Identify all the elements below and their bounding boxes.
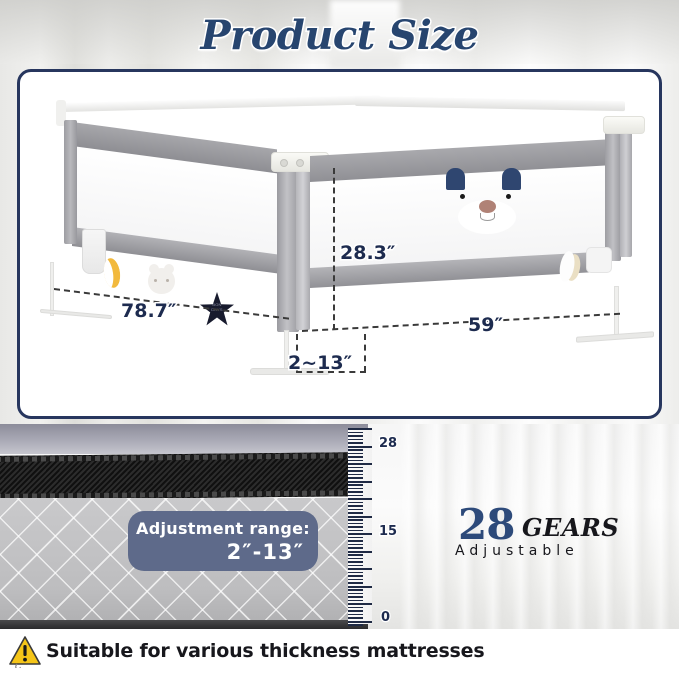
ruler-tick xyxy=(348,582,363,584)
ruler-tick xyxy=(348,586,372,588)
ruler-tick xyxy=(348,460,363,462)
rail-right-corner-cap xyxy=(603,116,645,134)
storage-pocket-right xyxy=(586,247,612,273)
ruler-label-15: 15 xyxy=(379,524,397,539)
ruler-tick xyxy=(348,530,363,532)
rail-far-top-bar-right xyxy=(355,96,625,111)
ruler-tick xyxy=(348,505,363,507)
rail-right-vertical-post xyxy=(605,131,621,261)
dimension-line-width xyxy=(302,313,620,332)
ruler-tick xyxy=(348,547,363,549)
ruler-tick xyxy=(348,519,363,521)
bed-frame-top xyxy=(0,424,368,454)
ruler-tick xyxy=(348,596,363,598)
ruler-tick xyxy=(348,498,372,500)
ruler-tick xyxy=(348,624,363,626)
ruler-tick xyxy=(348,540,363,542)
dimension-label-height: 28.3″ xyxy=(340,242,395,264)
dimension-line-height xyxy=(333,168,335,330)
caption-text: Suitable for various thickness mattresse… xyxy=(46,640,484,662)
ruler-tick xyxy=(348,481,372,483)
ruler-tick xyxy=(348,526,363,528)
rail-far-top-bar-left xyxy=(60,95,380,112)
dimension-label-clearance: 2~13″ xyxy=(288,352,352,374)
ruler-tick xyxy=(348,600,363,602)
ruler-tick xyxy=(348,509,363,511)
ruler-tick xyxy=(348,533,372,535)
dimension-label-length: 78.7″ xyxy=(121,300,176,322)
ruler-tick xyxy=(348,439,363,441)
ruler-tick xyxy=(348,603,372,605)
ruler-tick xyxy=(348,474,363,476)
ruler-tick xyxy=(348,544,363,546)
ruler-tick xyxy=(348,551,372,553)
ruler-tick xyxy=(348,435,363,437)
bear-face-graphic xyxy=(428,168,546,238)
ruler-tick xyxy=(348,442,363,444)
ruler-tick xyxy=(348,484,363,486)
ruler-tick xyxy=(348,593,363,595)
ruler-label-0: 0 xyxy=(381,610,390,625)
ruler-tick xyxy=(348,561,363,563)
ruler-tick xyxy=(348,453,363,455)
ruler-tick xyxy=(348,558,363,560)
leg-foot-right xyxy=(576,331,654,342)
ruler-tick xyxy=(348,575,363,577)
ruler-tick xyxy=(348,495,363,497)
ruler-tick xyxy=(348,446,372,448)
gears-subtitle: Adjustable xyxy=(455,543,579,559)
ruler-tick xyxy=(348,614,363,616)
measurement-ruler xyxy=(348,428,372,624)
ruler-tick xyxy=(348,554,363,556)
rail-left-vertical-post xyxy=(64,120,77,244)
warning-triangle-icon xyxy=(8,634,42,668)
infographic-root: Product Size BONDAYS xyxy=(0,0,679,679)
ruler-tick xyxy=(348,491,363,493)
dimension-label-width: 59″ xyxy=(468,314,503,336)
ruler-tick xyxy=(348,449,363,451)
ruler-tick xyxy=(348,523,363,525)
bear-face-icon xyxy=(148,268,175,294)
ruler-tick xyxy=(348,502,363,504)
ruler-tick xyxy=(348,568,372,570)
ruler-tick xyxy=(348,589,363,591)
ruler-tick xyxy=(348,456,363,458)
ruler-tick xyxy=(348,516,372,518)
ruler-tick xyxy=(348,470,363,472)
mattress-mesh-band xyxy=(0,452,368,500)
storage-pocket-icon xyxy=(82,229,106,274)
ruler-tick xyxy=(348,565,363,567)
crescent-moon-icon-right xyxy=(564,253,582,282)
rail-corner-post-inner xyxy=(296,170,310,330)
product-diagram-panel: BONDAYS xyxy=(17,69,662,419)
ruler-tick xyxy=(348,428,372,430)
ruler-label-28: 28 xyxy=(379,436,397,451)
adjustment-range-title: Adjustment range: xyxy=(136,519,310,538)
ruler-tick xyxy=(348,463,372,465)
ruler-tick xyxy=(348,607,363,609)
ruler-tick xyxy=(348,512,363,514)
ruler-tick xyxy=(348,488,363,490)
ruler-tick xyxy=(348,477,363,479)
ruler-tick xyxy=(348,617,363,619)
ruler-tick xyxy=(348,621,372,623)
ruler-tick xyxy=(348,537,363,539)
ruler-tick xyxy=(348,579,363,581)
rail-right-vertical-post-inner xyxy=(620,129,632,257)
page-title: Product Size xyxy=(0,12,679,59)
adjustment-range-badge: Adjustment range: 2″-13″ xyxy=(128,511,318,571)
ruler-tick xyxy=(348,432,363,434)
gears-word: GEARS xyxy=(522,513,619,542)
adjustment-range-value: 2″-13″ xyxy=(227,540,304,564)
ruler-tick xyxy=(348,467,363,469)
dimension-line-clearance-right xyxy=(364,334,366,372)
ruler-tick xyxy=(348,610,363,612)
mattress-bottom-edge xyxy=(0,620,368,629)
gears-count: 28 xyxy=(458,500,514,549)
ruler-tick xyxy=(348,572,363,574)
